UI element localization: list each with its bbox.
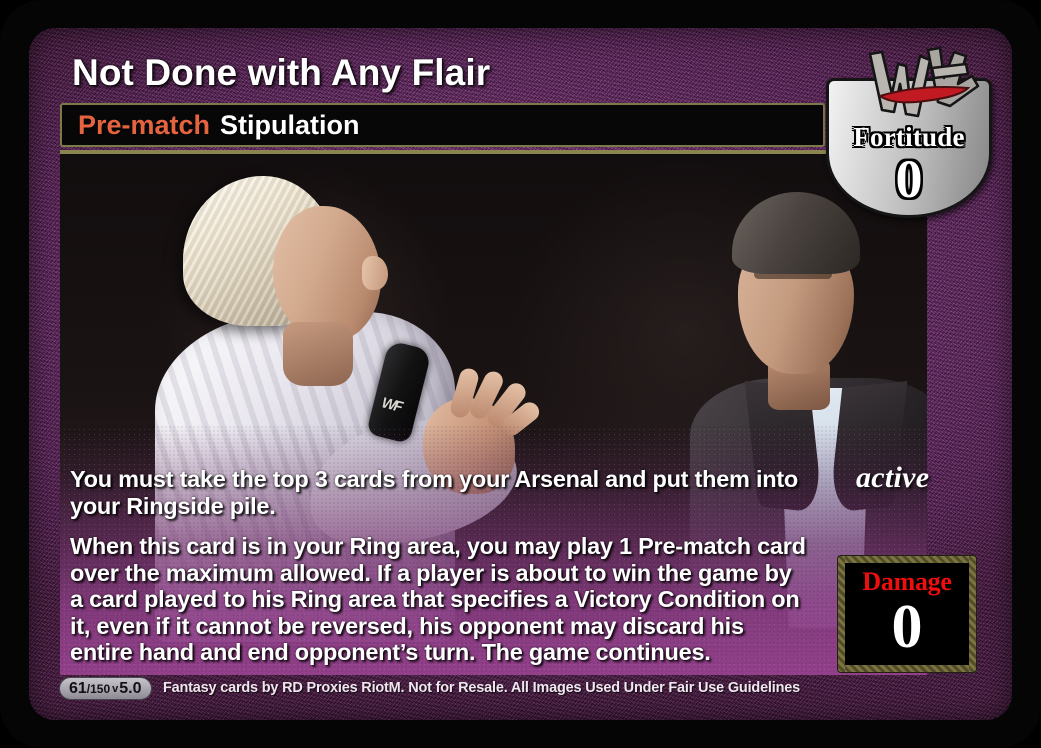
card-rules-text: You must take the top 3 cards from your … xyxy=(70,466,810,666)
status-badge: active xyxy=(856,461,929,495)
rules-paragraph: You must take the top 3 cards from your … xyxy=(70,466,810,519)
card-number-badge: 61 /150 v 5.0 xyxy=(59,677,152,700)
rules-paragraph: When this card is in your Ring area, you… xyxy=(70,533,810,666)
damage-box: Damage 0 xyxy=(838,556,976,672)
card-type-bar: Pre-match Stipulation xyxy=(60,103,825,147)
fortitude-value: 0 xyxy=(826,150,992,208)
legal-text: Fantasy cards by RD Proxies RiotM. Not f… xyxy=(163,680,800,696)
damage-value: 0 xyxy=(845,593,969,661)
version-number: 5.0 xyxy=(119,680,141,698)
card-subtype-label: Pre-match xyxy=(78,110,210,141)
flair-neck xyxy=(283,322,353,386)
card-title: Not Done with Any Flair xyxy=(72,52,832,94)
card-number-total: /150 xyxy=(87,682,110,696)
version-prefix: v xyxy=(112,683,118,695)
flair-nose xyxy=(362,256,388,290)
card-border: Not Done with Any Flair Pre-match Stipul… xyxy=(0,0,1041,748)
card-number: 61 xyxy=(69,680,87,698)
mic-wwf-logo: WF xyxy=(379,392,411,420)
card-kind-label: Stipulation xyxy=(220,110,359,141)
